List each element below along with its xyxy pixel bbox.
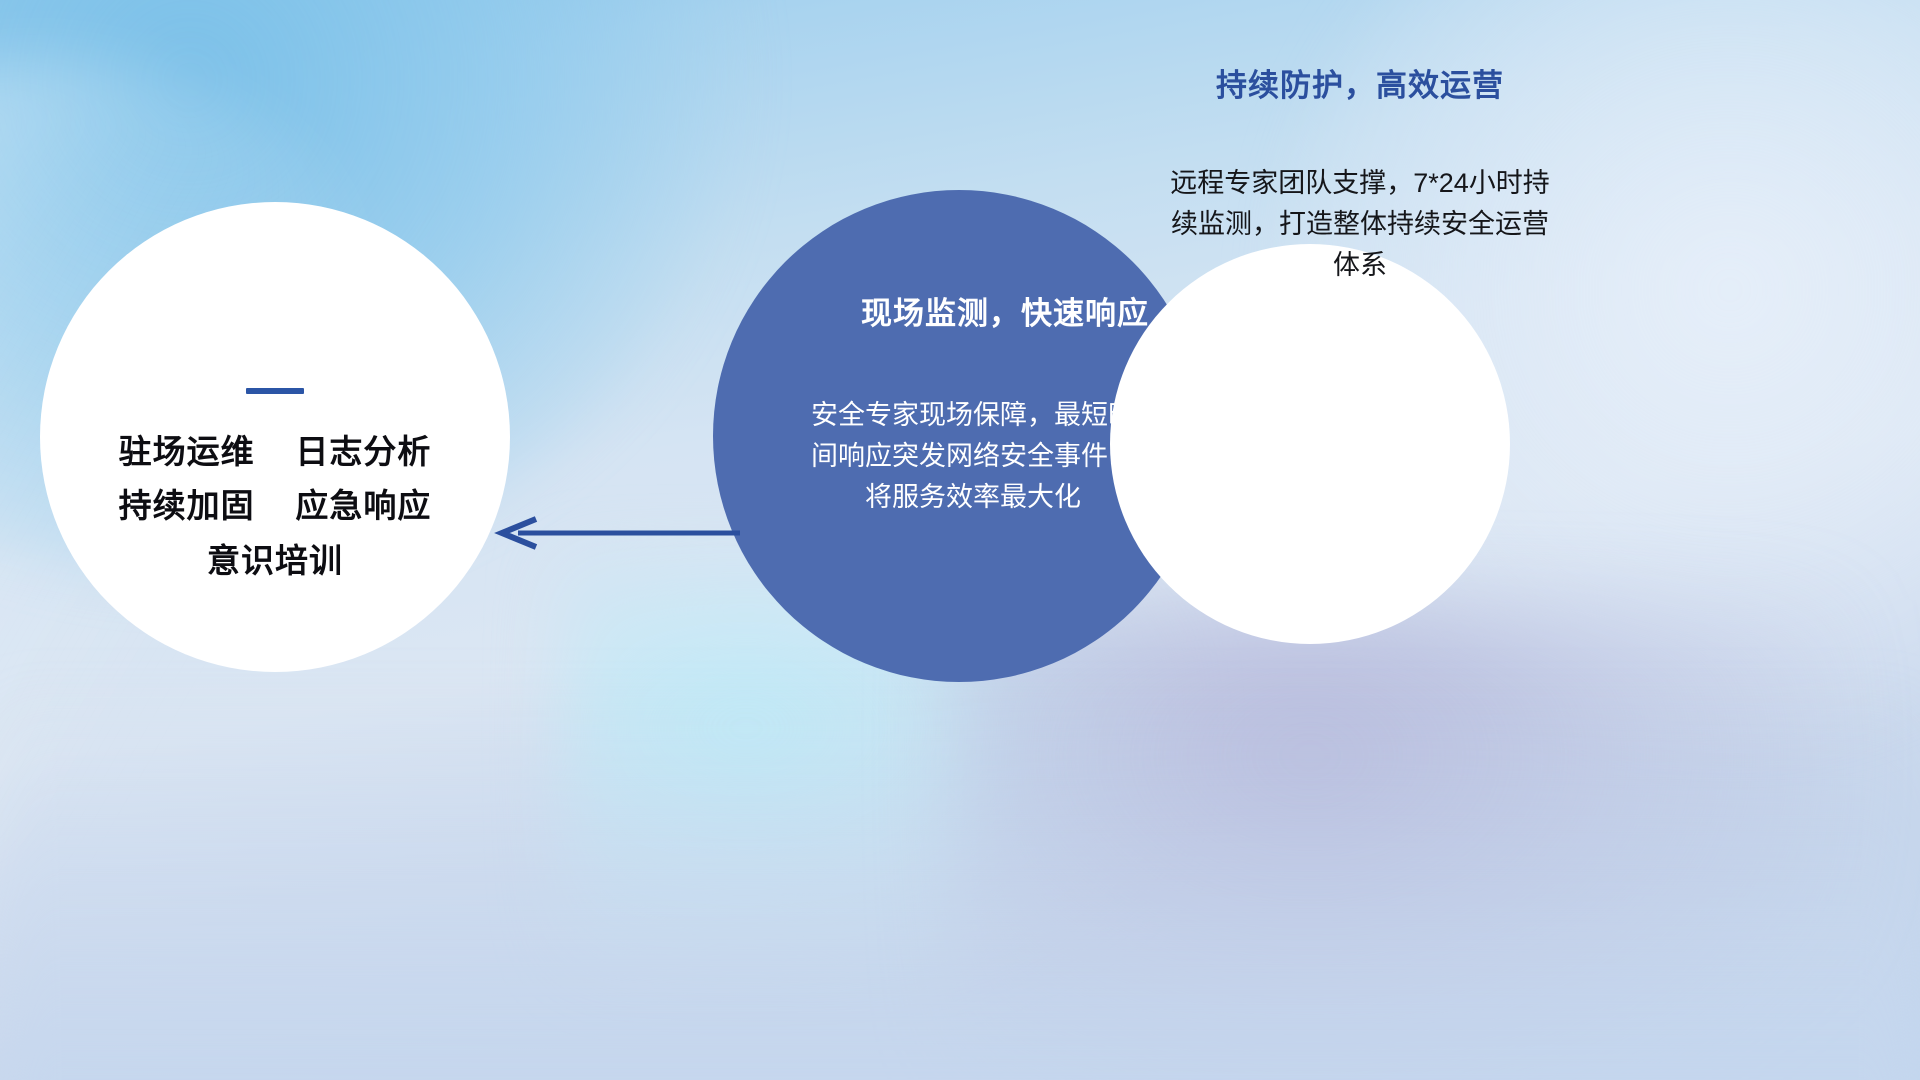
flow-arrow-left xyxy=(490,515,740,551)
capability-tag-list: 驻场运维 日志分析 持续加固 应急响应 意识培训 xyxy=(40,434,510,579)
right-circle-title: 持续防护，高效运营 xyxy=(1216,60,1504,105)
background-bottom-wash xyxy=(0,680,1920,1080)
mid-circle-title: 现场监测，快速响应 xyxy=(861,288,1149,333)
right-continuous-circle xyxy=(1110,244,1510,644)
right-circle-body: 远程专家团队支撑，7*24小时持续监测，打造整体持续安全运营体系 xyxy=(1166,163,1554,286)
right-circle-content: 持续防护，高效运营 远程专家团队支撑，7*24小时持续监测，打造整体持续安全运营… xyxy=(1110,60,1610,286)
capability-line: 意识培训 xyxy=(207,543,343,579)
arrow-left-icon xyxy=(490,515,740,551)
slide-canvas: 驻场运维 日志分析 持续加固 应急响应 意识培训 现场监测，快速响应 安全专家现… xyxy=(0,0,1920,1080)
capability-line: 驻场运维 日志分析 xyxy=(119,434,432,470)
mid-circle-body: 安全专家现场保障，最短时间响应突发网络安全事件，将服务效率最大化 xyxy=(803,395,1143,518)
accent-dash-divider xyxy=(246,388,304,394)
left-capability-circle: 驻场运维 日志分析 持续加固 应急响应 意识培训 xyxy=(40,202,510,672)
capability-line: 持续加固 应急响应 xyxy=(119,488,432,524)
